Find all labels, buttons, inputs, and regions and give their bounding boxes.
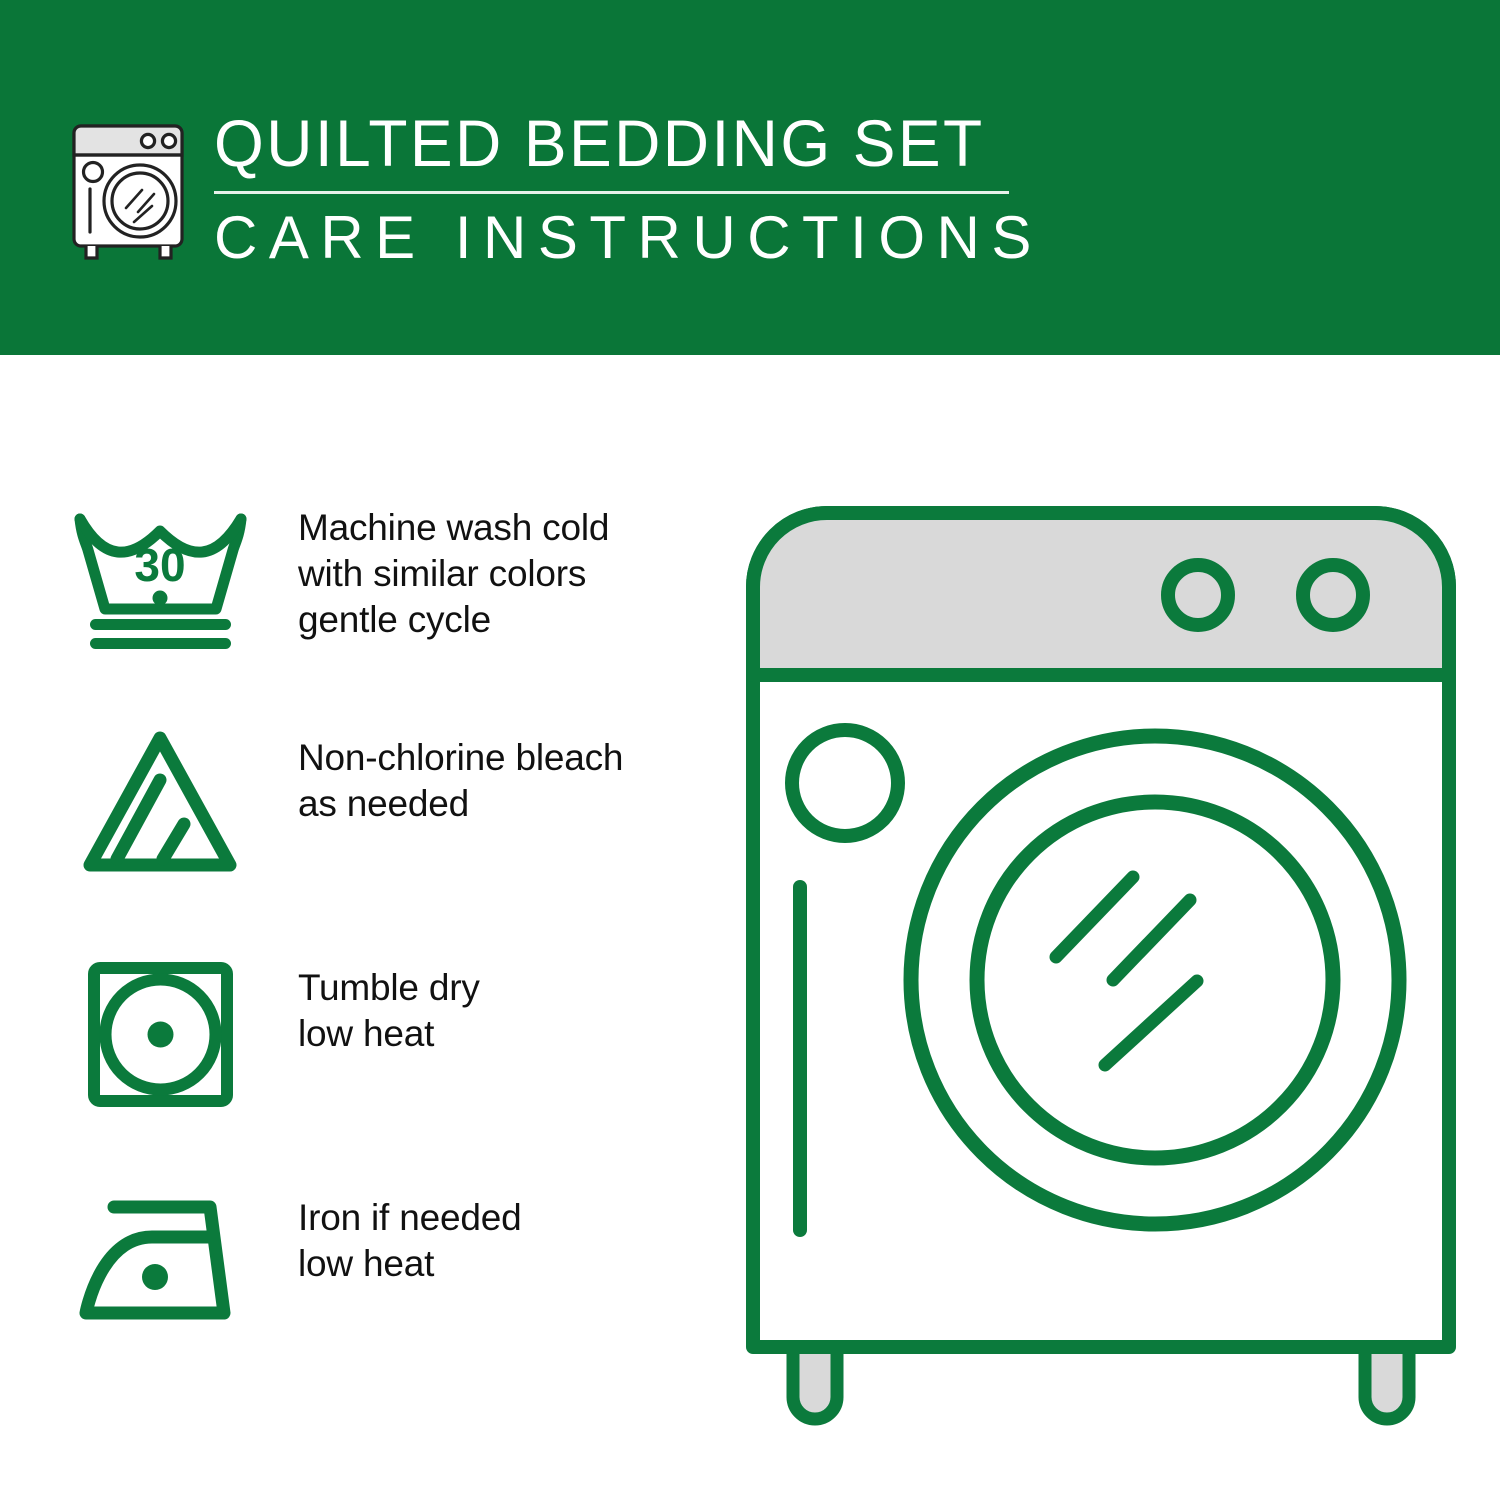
- care-text-line: Tumble dry: [298, 965, 718, 1011]
- care-text-line: Non-chlorine bleach: [298, 735, 718, 781]
- header-text-block: QUILTED BEDDING SET CARE INSTRUCTIONS: [214, 104, 1024, 273]
- care-row-machine-wash: 30 Machine wash cold with similar colors…: [60, 495, 720, 725]
- care-text-bleach: Non-chlorine bleach as needed: [298, 735, 718, 827]
- care-text-line: gentle cycle: [298, 597, 718, 643]
- care-text-line: as needed: [298, 781, 718, 827]
- content-area: 30 Machine wash cold with similar colors…: [0, 355, 1500, 1500]
- care-text-line: with similar colors: [298, 551, 718, 597]
- care-text-line: Iron if needed: [298, 1195, 718, 1241]
- tumble-dry-low-symbol: [68, 955, 253, 1115]
- iron-low-heat-symbol: [68, 1185, 253, 1345]
- knob-right: [1303, 565, 1363, 625]
- care-text-line: low heat: [298, 1011, 718, 1057]
- care-text-line: Machine wash cold: [298, 505, 718, 551]
- front-load-washing-machine-illustration: [735, 495, 1465, 1445]
- machine-wash-30-gentle-symbol: 30: [68, 495, 253, 655]
- wash-temperature-label: 30: [134, 539, 185, 591]
- care-text-machine-wash: Machine wash cold with similar colors ge…: [298, 505, 718, 643]
- page-title: QUILTED BEDDING SET: [214, 104, 1000, 182]
- care-instruction-list: 30 Machine wash cold with similar colors…: [60, 495, 720, 1385]
- care-row-bleach: Non-chlorine bleach as needed: [60, 725, 720, 955]
- care-text-line: low heat: [298, 1241, 718, 1287]
- care-text-tumble-dry: Tumble dry low heat: [298, 965, 718, 1057]
- care-row-iron: Iron if needed low heat: [60, 1185, 720, 1385]
- header-banner: QUILTED BEDDING SET CARE INSTRUCTIONS: [0, 0, 1500, 355]
- care-text-iron: Iron if needed low heat: [298, 1195, 718, 1287]
- detergent-indicator: [792, 730, 898, 836]
- knob-left: [1168, 565, 1228, 625]
- washing-machine-icon: [62, 108, 194, 263]
- care-row-tumble-dry: Tumble dry low heat: [60, 955, 720, 1185]
- door-inner-ring: [977, 802, 1333, 1158]
- page-subtitle: CARE INSTRUCTIONS: [214, 203, 1024, 273]
- non-chlorine-bleach-symbol: [68, 725, 253, 885]
- title-divider: [214, 191, 1009, 194]
